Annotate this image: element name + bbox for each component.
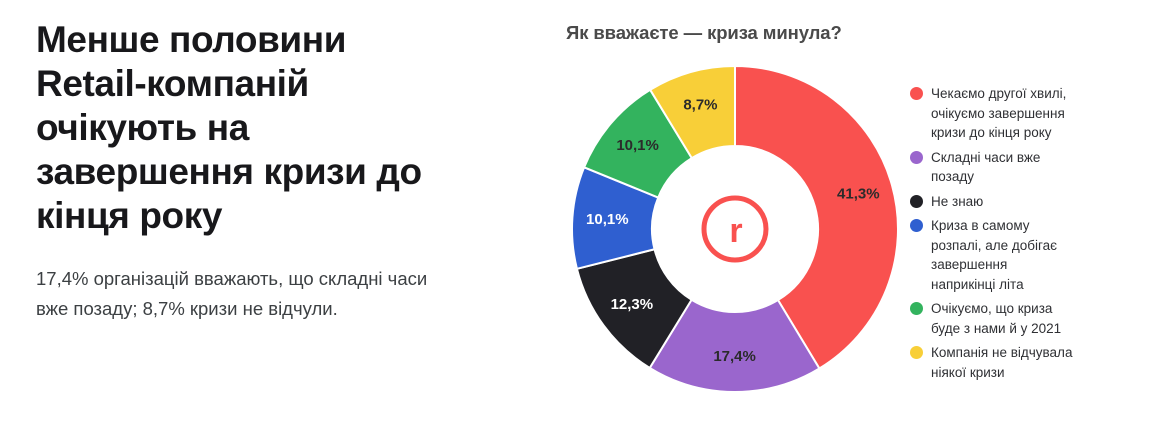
legend-item[interactable]: Не знаю xyxy=(910,192,1140,212)
article-subtitle: 17,4% організацій вважають, що складні ч… xyxy=(36,264,506,324)
logo-letter: r xyxy=(729,212,742,250)
legend-swatch-icon xyxy=(910,302,923,315)
legend-item-label: Компанія не відчувала ніякої кризи xyxy=(931,343,1072,382)
legend-swatch-icon xyxy=(910,87,923,100)
slice-value-label: 8,7% xyxy=(683,97,717,114)
legend-item[interactable]: Очікуємо, що криза буде з нами й у 2021 xyxy=(910,299,1140,338)
legend-item-label: Чекаємо другої хвилі, очікуємо завершенн… xyxy=(931,84,1066,143)
chart-title: Як вважаєте — криза минула? xyxy=(566,22,842,44)
article-column: Менше половини Retail-компаній очікують … xyxy=(36,18,506,324)
legend-item-label: Складні часи вже позаду xyxy=(931,148,1040,187)
donut-chart-svg: 41,3%17,4%12,3%10,1%10,1%8,7% r xyxy=(562,56,908,402)
legend-item[interactable]: Складні часи вже позаду xyxy=(910,148,1140,187)
legend-item-label: Не знаю xyxy=(931,192,983,212)
legend-swatch-icon xyxy=(910,219,923,232)
slice-value-label: 12,3% xyxy=(611,296,654,313)
legend-item[interactable]: Криза в самому розпалі, але добігає заве… xyxy=(910,216,1140,294)
legend-item-label: Криза в самому розпалі, але добігає заве… xyxy=(931,216,1057,294)
chart-block: Як вважаєте — криза минула? 41,3%17,4%12… xyxy=(540,0,1158,444)
center-logo: r xyxy=(704,198,766,260)
slice-value-label: 41,3% xyxy=(837,186,880,203)
legend-item[interactable]: Чекаємо другої хвилі, очікуємо завершенн… xyxy=(910,84,1140,143)
page-title: Менше половини Retail-компаній очікують … xyxy=(36,18,506,238)
slice-value-label: 10,1% xyxy=(616,137,659,154)
legend-swatch-icon xyxy=(910,151,923,164)
slice-value-label: 10,1% xyxy=(586,211,629,228)
donut-chart: 41,3%17,4%12,3%10,1%10,1%8,7% r xyxy=(562,56,908,402)
legend-swatch-icon xyxy=(910,195,923,208)
slice-value-label: 17,4% xyxy=(713,348,756,365)
legend-swatch-icon xyxy=(910,346,923,359)
legend-item[interactable]: Компанія не відчувала ніякої кризи xyxy=(910,343,1140,382)
infographic-page: Менше половини Retail-компаній очікують … xyxy=(0,0,1158,444)
legend-item-label: Очікуємо, що криза буде з нами й у 2021 xyxy=(931,299,1061,338)
chart-legend: Чекаємо другої хвилі, очікуємо завершенн… xyxy=(910,84,1140,387)
